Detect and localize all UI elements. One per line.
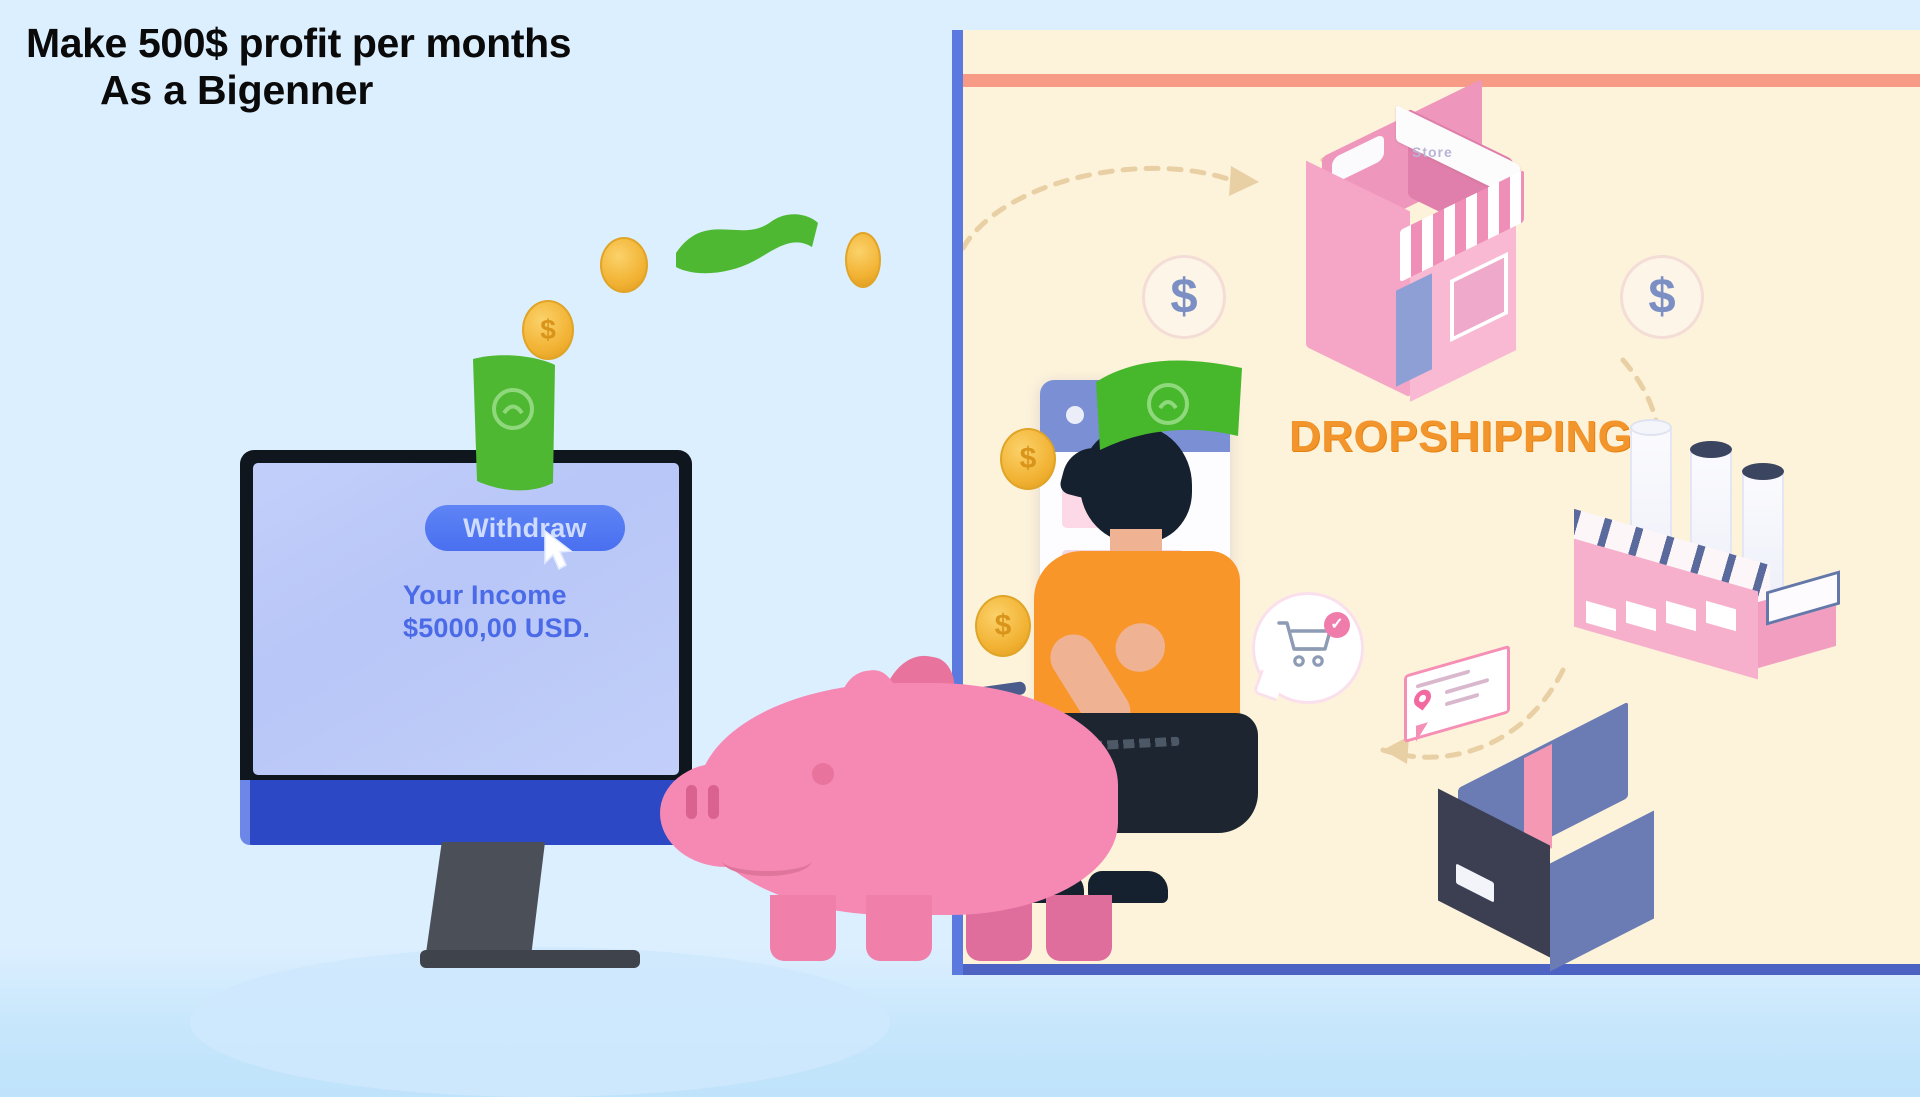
desktop-monitor: Withdraw Your Income $5000,00 USD. (240, 450, 702, 920)
headline-block: Make 500$ profit per months As a Bigenne… (26, 22, 571, 116)
monitor-chin-highlight (240, 780, 250, 845)
store-illustration: Store (1288, 90, 1538, 390)
piggy-nostril (686, 785, 697, 819)
headline-line-2: As a Bigenner (100, 65, 571, 116)
coin-icon: $ (1000, 428, 1056, 490)
monitor-chin (240, 780, 692, 845)
banknote-icon (455, 355, 565, 505)
store-sign-text: Store (1412, 144, 1536, 160)
headline-line-1: Make 500$ profit per months (26, 22, 571, 65)
banknote-icon (672, 205, 822, 285)
monitor-stand (425, 842, 545, 960)
piggy-eye (812, 763, 834, 785)
poster-canvas: Make 500$ profit per months As a Bigenne… (0, 0, 1920, 1097)
piggy-mouth (722, 845, 812, 876)
coin-icon (845, 232, 881, 288)
monitor-base (420, 950, 640, 968)
factory-illustration (1560, 395, 1860, 665)
box-right-face (1550, 811, 1654, 972)
withdraw-button[interactable]: Withdraw (425, 505, 625, 551)
piggy-leg (866, 895, 932, 961)
income-amount: $5000,00 USD. (403, 612, 679, 645)
income-label: Your Income (403, 579, 679, 612)
piggy-bank-illustration (650, 645, 1130, 975)
store-door (1396, 273, 1432, 387)
package-box-illustration (1420, 745, 1690, 955)
dollar-badge-right: $ (1620, 255, 1704, 339)
monitor-screen: Withdraw Your Income $5000,00 USD. (253, 463, 679, 775)
income-readout: Your Income $5000,00 USD. (403, 579, 679, 645)
coin-icon (600, 237, 648, 293)
banknote-icon (1090, 352, 1250, 462)
piggy-leg (770, 895, 836, 961)
delivery-address-card (1404, 660, 1524, 756)
address-card-tail (1416, 722, 1428, 741)
dollar-badge-left: $ (1142, 255, 1226, 339)
piggy-leg (1046, 895, 1112, 961)
coin-icon: $ (522, 300, 574, 360)
arrow-cursor-icon (541, 529, 575, 573)
piggy-nostril (708, 785, 719, 819)
